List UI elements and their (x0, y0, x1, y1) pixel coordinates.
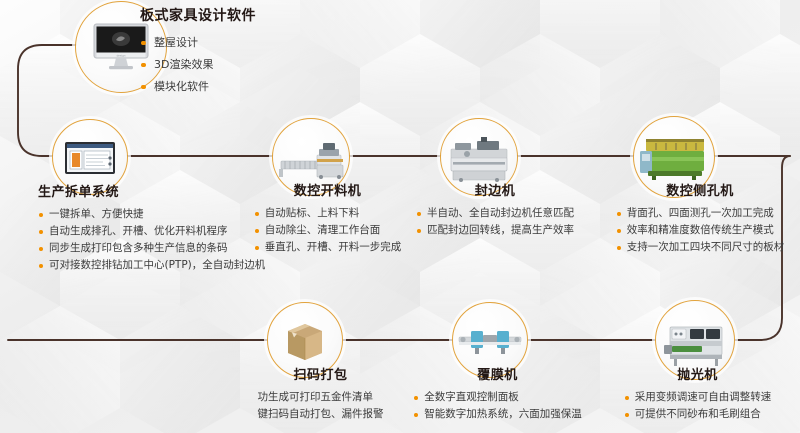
list-item: 效率和精准度数倍传统生产模式 (616, 222, 785, 239)
list-item: 智能数字加热系统，六面加强保温 (413, 406, 582, 423)
list-item: 自动贴标、上料下料 (254, 205, 402, 222)
list-item: 垂直孔、开槽、开料一步完成 (254, 239, 402, 256)
list-item: 半自动、全自动封边机任意匹配 (416, 205, 574, 222)
cardboard-box-icon (268, 303, 342, 377)
bullet-list: 自动贴标、上料下料 自动除尘、清理工作台面 垂直孔、开槽、开料一步完成 (254, 205, 402, 256)
header-title: 板式家具设计软件 (140, 8, 370, 25)
list-item: 可提供不同砂布和毛刷组合 (624, 406, 772, 423)
node-laminating-machine[interactable] (452, 302, 528, 378)
node-scan-and-pack[interactable] (267, 302, 343, 378)
block-title: 封边机 (405, 184, 585, 200)
bullet-list: 半自动、全自动封边机任意匹配 匹配封边回转线，提高生产效率 (416, 205, 574, 239)
list-item: 全数字直观控制面板 (413, 389, 582, 406)
bullet-list: 全数字直观控制面板 智能数字加热系统，六面加强保温 (413, 389, 582, 423)
bullet-list: 功生成可打印五金件清单 键扫码自动打包、漏件报警 (258, 389, 384, 423)
list-item: 背面孔、四面测孔一次加工完成 (616, 205, 785, 222)
list-item: 可对接数控排钻加工中心(PTP)，全自动封边机 (38, 257, 298, 274)
block-cnc-cutting-machine: 数控开料机 自动贴标、上料下料 自动除尘、清理工作台面 垂直孔、开槽、开料一步完… (250, 184, 405, 256)
infographic-canvas: design 板式家具设计软件 整屋设计 3D渲染效果 模块化软件 (0, 0, 800, 433)
list-item: 支持一次加工四块不同尺寸的板材 (616, 239, 785, 256)
control-panel-icon (53, 120, 127, 194)
block-title: 数控开料机 (250, 184, 405, 200)
list-item: 整屋设计 (140, 32, 370, 54)
list-item: 功生成可打印五金件清单 (258, 389, 384, 406)
node-order-splitting-system[interactable] (52, 119, 128, 195)
list-item: 键扫码自动打包、漏件报警 (258, 406, 384, 423)
bullet-list: 采用变频调速可自由调整转速 可提供不同砂布和毛刷组合 (624, 389, 772, 423)
header-bullet-list: 整屋设计 3D渲染效果 模块化软件 (140, 32, 370, 98)
block-title: 数控侧孔机 (605, 184, 795, 200)
block-title: 覆膜机 (405, 368, 590, 384)
block-scan-and-pack: 扫码打包 功生成可打印五金件清单 键扫码自动打包、漏件报警 (233, 368, 408, 423)
list-item: 匹配封边回转线，提高生产效率 (416, 222, 574, 239)
block-title: 抛光机 (605, 368, 790, 384)
list-item: 采用变频调速可自由调整转速 (624, 389, 772, 406)
block-laminating-machine: 覆膜机 全数字直观控制面板 智能数字加热系统，六面加强保温 (405, 368, 590, 423)
list-item: 模块化软件 (140, 76, 370, 98)
block-edge-banding-machine: 封边机 半自动、全自动封边机任意匹配 匹配封边回转线，提高生产效率 (405, 184, 585, 239)
block-cnc-side-hole-machine: 数控侧孔机 背面孔、四面测孔一次加工完成 效率和精准度数倍传统生产模式 支持一次… (605, 184, 795, 256)
block-polishing-machine: 抛光机 采用变频调速可自由调整转速 可提供不同砂布和毛刷组合 (605, 368, 790, 423)
list-item: 自动除尘、清理工作台面 (254, 222, 402, 239)
block-title: 扫码打包 (233, 368, 408, 384)
bullet-list: 背面孔、四面测孔一次加工完成 效率和精准度数倍传统生产模式 支持一次加工四块不同… (616, 205, 785, 256)
laminating-machine-icon (453, 303, 527, 377)
header-text-block: 板式家具设计软件 整屋设计 3D渲染效果 模块化软件 (140, 8, 370, 98)
svg-text:design: design (117, 54, 126, 58)
list-item: 3D渲染效果 (140, 54, 370, 76)
